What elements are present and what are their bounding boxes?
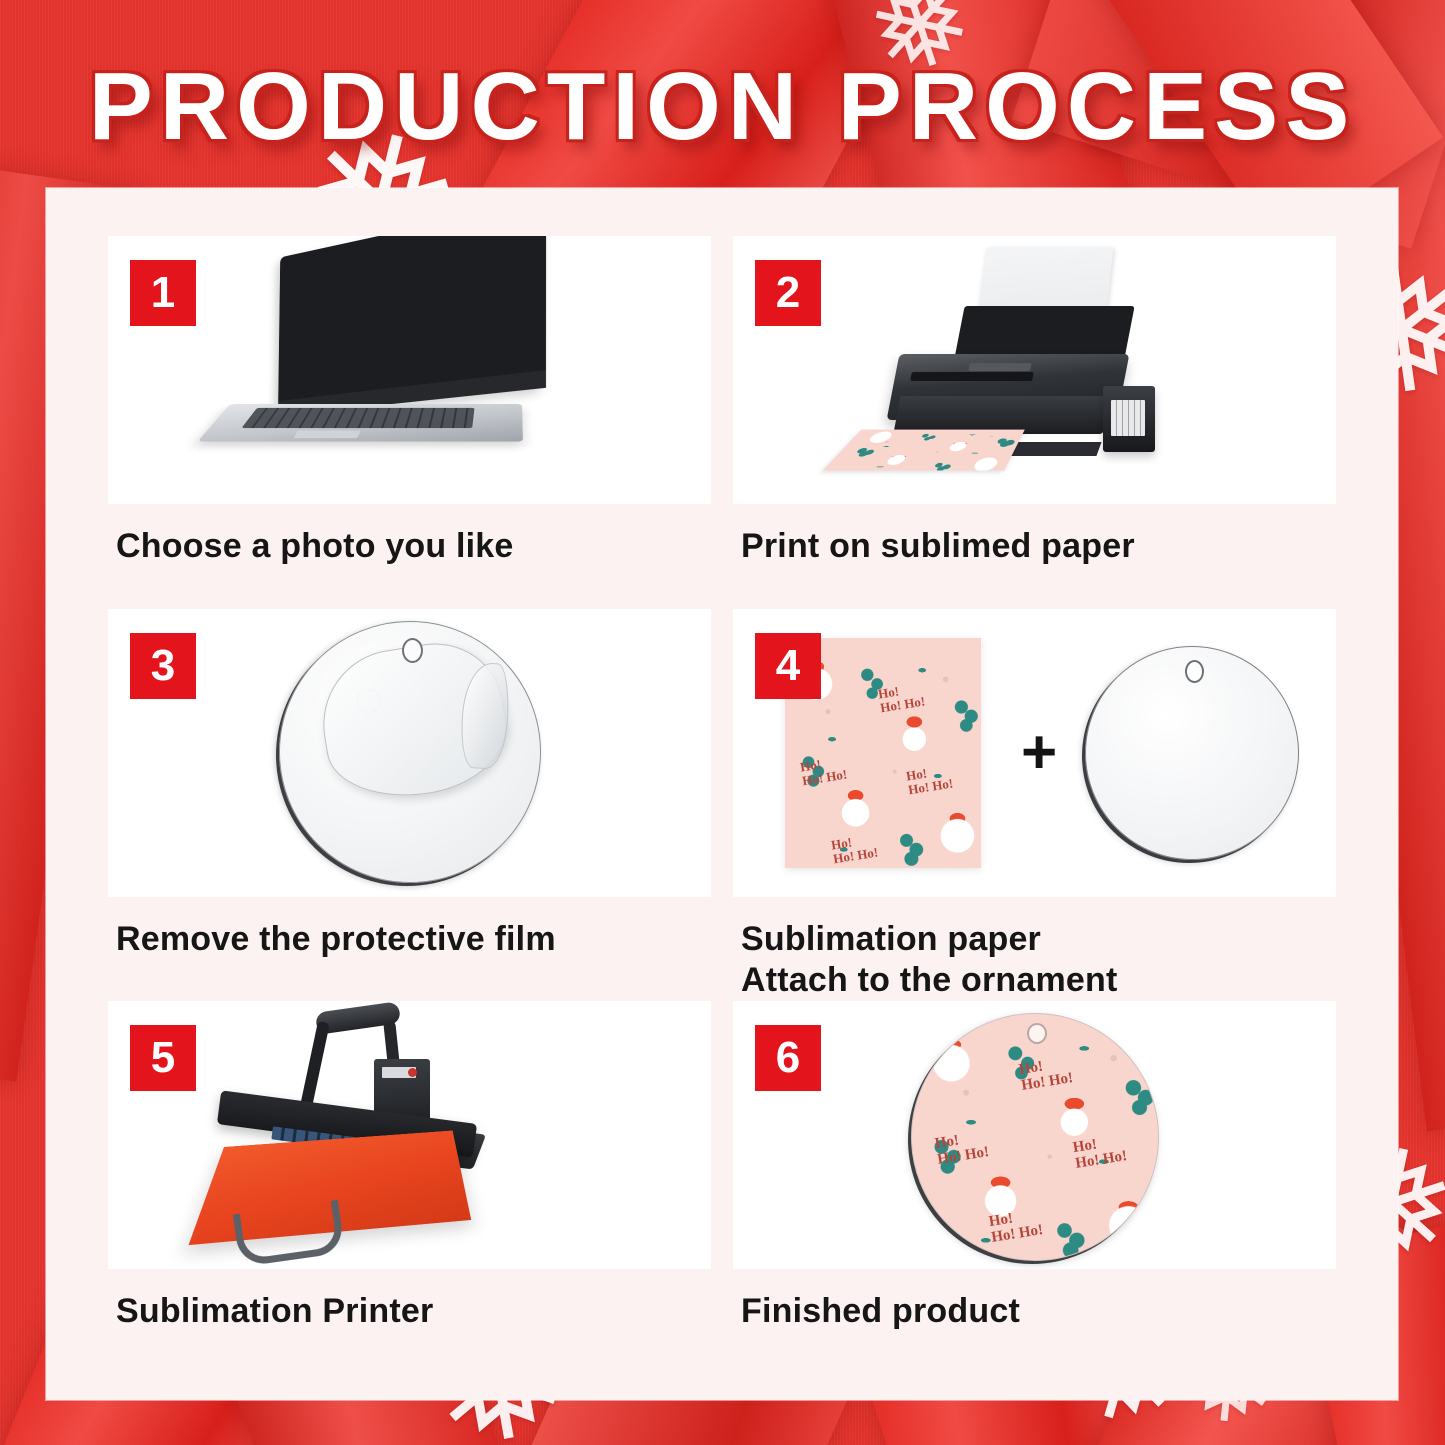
ink-tank-window <box>1111 400 1145 436</box>
printer-front-panel <box>893 396 1110 434</box>
step-2-number-badge: 2 <box>755 260 821 326</box>
laptop-keyboard <box>241 408 474 428</box>
step-4-image-card: 4 Ho! Ho! Ho! Ho! Ho! Ho! Ho! Ho! Ho! Ho… <box>733 609 1336 897</box>
pattern-text: Ho! Ho! Ho! <box>877 680 926 714</box>
steps-panel: 1 Ho! Ho! Ho! Ho! Ho! Ho! Ho! Ho! Ho! <box>46 188 1398 1400</box>
step-3: 3 Remove the protective film <box>108 609 711 1002</box>
laptop-illustration: Ho! Ho! Ho! Ho! Ho! Ho! Ho! Ho! Ho! <box>108 236 711 504</box>
step-4-number-badge: 4 <box>755 633 821 699</box>
step-4-caption: Sublimation paper Attach to the ornament <box>733 897 1336 1002</box>
disc-hanging-hole <box>402 638 423 663</box>
pattern-text: Ho! Ho! Ho! <box>799 754 848 788</box>
laptop-trackpad <box>293 430 360 438</box>
plus-symbol: + <box>1021 722 1057 784</box>
printer-control-panel <box>968 363 1032 371</box>
page-title: PRODUCTION PROCESS <box>0 52 1445 162</box>
pattern-text: Ho! Ho! Ho! <box>313 251 346 265</box>
step-1-number-badge: 1 <box>130 260 196 326</box>
ornament-hanging-hole <box>1027 1023 1047 1044</box>
printer-output-slot <box>910 372 1034 381</box>
printer-illustration <box>733 236 1336 504</box>
step-6-number-badge: 6 <box>755 1025 821 1091</box>
step-3-image-card: 3 <box>108 609 711 897</box>
heat-press-illustration <box>108 1001 711 1269</box>
laptop-lid: Ho! Ho! Ho! Ho! Ho! Ho! Ho! Ho! Ho! <box>278 236 546 416</box>
step-6-caption: Finished product <box>733 1269 1336 1332</box>
steps-grid: 1 Ho! Ho! Ho! Ho! Ho! Ho! Ho! Ho! Ho! <box>46 188 1398 1400</box>
printer-ink-tank <box>1103 386 1155 452</box>
step-1: 1 Ho! Ho! Ho! Ho! Ho! Ho! Ho! Ho! Ho! <box>108 236 711 609</box>
step-6-image-card: 6 Ho! Ho! Ho! Ho! Ho! Ho! Ho! Ho! Ho! Ho… <box>733 1001 1336 1269</box>
step-1-image-card: 1 Ho! Ho! Ho! Ho! Ho! Ho! Ho! Ho! Ho! <box>108 236 711 504</box>
paper-plus-disc-illustration: Ho! Ho! Ho! Ho! Ho! Ho! Ho! Ho! Ho! Ho! … <box>733 609 1336 897</box>
step-5: 5 <box>108 1001 711 1374</box>
pattern-text: Ho! Ho! Ho! <box>905 763 954 797</box>
step-1-caption: Choose a photo you like <box>108 504 711 567</box>
finished-ornament-illustration: Ho! Ho! Ho! Ho! Ho! Ho! Ho! Ho! Ho! Ho! … <box>733 1001 1336 1269</box>
pattern-text: Ho! Ho! Ho! <box>934 1129 990 1168</box>
printed-pattern-sheet <box>823 430 1025 471</box>
step-4: 4 Ho! Ho! Ho! Ho! Ho! Ho! Ho! Ho! Ho! Ho… <box>733 609 1336 1002</box>
step-2: 2 <box>733 236 1336 609</box>
step-5-number-badge: 5 <box>130 1025 196 1091</box>
blank-ornament-disc <box>1085 646 1299 860</box>
step-3-caption: Remove the protective film <box>108 897 711 960</box>
laptop-base <box>198 404 523 442</box>
step-3-number-badge: 3 <box>130 633 196 699</box>
poster-root: ❅ ❅ ❅ ❅ ❅ ❅ ❅ PRODUCTION PROCESS 1 Ho! H… <box>0 0 1445 1445</box>
pattern-text: Ho! Ho! Ho! <box>1072 1134 1128 1173</box>
finished-ornament: Ho! Ho! Ho! Ho! Ho! Ho! Ho! Ho! Ho! Ho! … <box>911 1013 1159 1261</box>
pattern-text: Ho! Ho! Ho! <box>830 832 879 866</box>
pattern-text: Ho! Ho! Ho! <box>474 236 515 248</box>
laptop-screen: Ho! Ho! Ho! Ho! Ho! Ho! Ho! Ho! Ho! <box>287 236 556 265</box>
step-5-image-card: 5 <box>108 1001 711 1269</box>
acrylic-disc-illustration <box>108 609 711 897</box>
pattern-text: Ho! Ho! Ho! <box>397 236 434 263</box>
pattern-text: Ho! Ho! Ho! <box>988 1207 1044 1246</box>
disc-hanging-hole <box>1185 660 1204 683</box>
pattern-text: Ho! Ho! Ho! <box>1018 1055 1074 1094</box>
step-2-image-card: 2 <box>733 236 1336 504</box>
step-2-caption: Print on sublimed paper <box>733 504 1336 567</box>
step-6: 6 Ho! Ho! Ho! Ho! Ho! Ho! Ho! Ho! Ho! Ho… <box>733 1001 1336 1374</box>
step-5-caption: Sublimation Printer <box>108 1269 711 1332</box>
